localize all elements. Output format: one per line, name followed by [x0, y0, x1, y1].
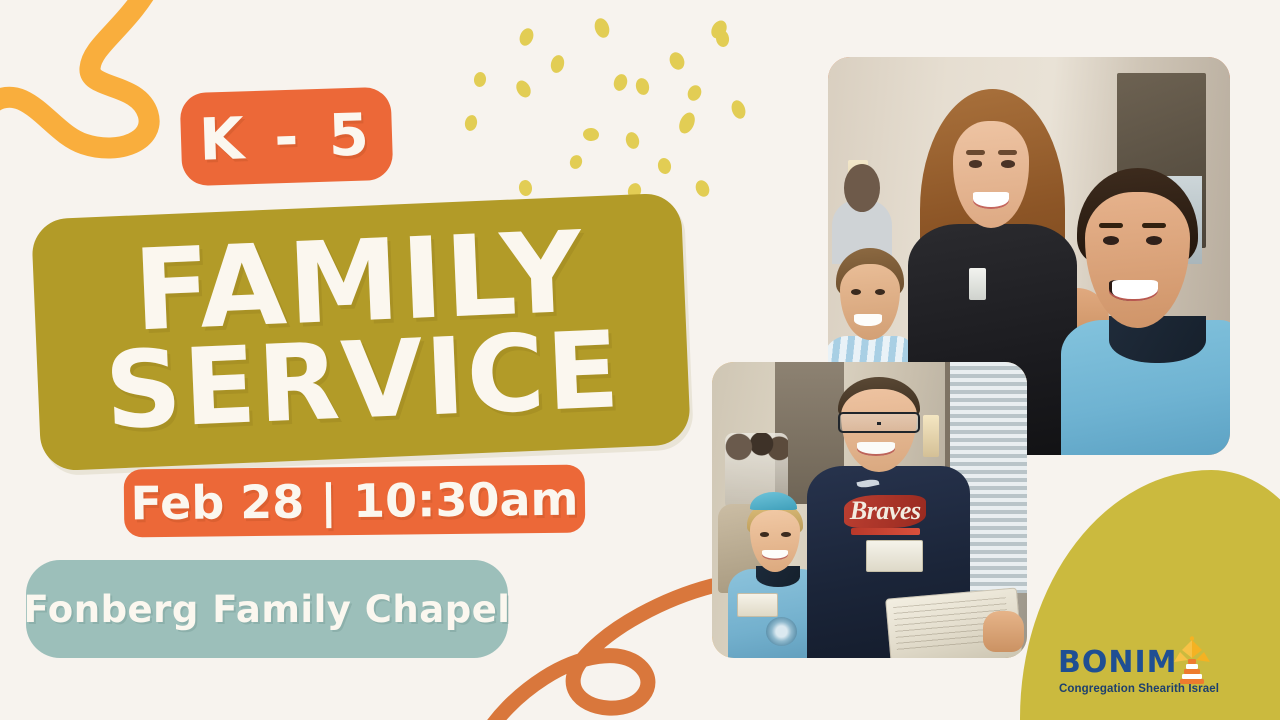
- title-block: FAMILY SERVICE: [31, 193, 691, 472]
- confetti-dot: [685, 83, 704, 103]
- confetti-dot: [463, 114, 478, 132]
- photo-man-with-boy-holding-prayerbook: Braves: [712, 362, 1027, 658]
- confetti-dot: [513, 78, 533, 100]
- bonim-pyramid-mark-icon: [1166, 636, 1218, 688]
- confetti-dot: [517, 26, 536, 48]
- photo-second-image: Braves: [712, 362, 1027, 658]
- date-time-label: Feb 28 | 10:30am: [130, 476, 578, 527]
- grade-badge-label: K - 5: [198, 105, 375, 168]
- confetti-dot: [656, 157, 672, 175]
- confetti-dot: [667, 50, 687, 72]
- page-title-line-2: SERVICE: [103, 323, 623, 438]
- confetti-dot: [729, 98, 748, 120]
- confetti-dot: [612, 72, 630, 92]
- confetti-dot: [715, 29, 731, 48]
- flyer-canvas: K - 5 FAMILY SERVICE Feb 28 | 10:30am Fo…: [0, 0, 1280, 720]
- confetti-dot: [582, 127, 599, 142]
- logo-wordmark: BONIM: [1058, 648, 1178, 678]
- organization-logo: BONIM Congregation Shearith Israel: [1058, 648, 1218, 706]
- confetti-dot: [473, 71, 487, 88]
- confetti-dot: [592, 16, 611, 39]
- confetti-dot: [624, 131, 641, 151]
- location-label: Fonberg Family Chapel: [24, 591, 511, 628]
- location-banner: Fonberg Family Chapel: [26, 560, 508, 658]
- date-time-banner: Feb 28 | 10:30am: [124, 465, 586, 538]
- confetti-dot: [518, 179, 533, 197]
- confetti-dot: [568, 153, 584, 170]
- grade-badge: K - 5: [180, 87, 394, 187]
- confetti-dot: [693, 178, 711, 199]
- confetti-dot: [549, 54, 566, 75]
- confetti-dot: [708, 18, 730, 41]
- confetti-dot: [634, 77, 651, 97]
- confetti-dot: [676, 110, 698, 136]
